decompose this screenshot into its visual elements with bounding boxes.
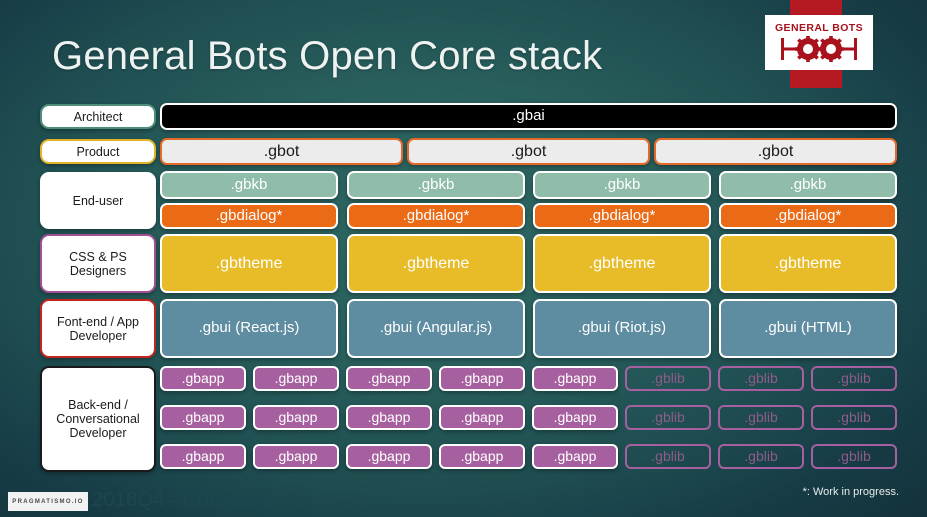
layer-gblib[interactable]: .gblib bbox=[811, 405, 897, 430]
layer-gbai[interactable]: .gbai bbox=[160, 103, 897, 130]
layer-gbapp[interactable]: .gbapp bbox=[346, 405, 432, 430]
layer-gbapp[interactable]: .gbapp bbox=[532, 444, 618, 469]
layer-gbapp[interactable]: .gbapp bbox=[160, 405, 246, 430]
layer-gbtheme[interactable]: .gbtheme bbox=[160, 234, 338, 293]
layer-gbkb[interactable]: .gbkb bbox=[347, 171, 525, 199]
footer-edition: 2018Q4 - Corporate bbox=[92, 489, 273, 512]
layer-gbapp[interactable]: .gbapp bbox=[253, 366, 339, 391]
pragmatismo-logo: PRAGMATISMO.IO bbox=[8, 492, 88, 511]
role-label-architect: Architect bbox=[40, 104, 156, 129]
logo-wordmark: GENERAL BOTS bbox=[775, 23, 863, 34]
layer-gbtheme[interactable]: .gbtheme bbox=[533, 234, 711, 293]
layer-gbui-angular[interactable]: .gbui (Angular.js) bbox=[347, 299, 525, 358]
layer-gblib[interactable]: .gblib bbox=[625, 405, 711, 430]
layer-gbapp[interactable]: .gbapp bbox=[160, 366, 246, 391]
layer-gbapp[interactable]: .gbapp bbox=[253, 405, 339, 430]
layer-gbkb[interactable]: .gbkb bbox=[160, 171, 338, 199]
layer-gbtheme[interactable]: .gbtheme bbox=[347, 234, 525, 293]
layer-gbapp[interactable]: .gbapp bbox=[532, 405, 618, 430]
layer-gbapp[interactable]: .gbapp bbox=[253, 444, 339, 469]
layer-gbot[interactable]: .gbot bbox=[407, 138, 650, 165]
layer-gbapp[interactable]: .gbapp bbox=[160, 444, 246, 469]
layer-gblib[interactable]: .gblib bbox=[811, 444, 897, 469]
layer-gblib[interactable]: .gblib bbox=[718, 405, 804, 430]
role-label-frontend-developer: Font-end / App Developer bbox=[40, 299, 156, 358]
role-label-product: Product bbox=[40, 139, 156, 164]
layer-gblib[interactable]: .gblib bbox=[718, 366, 804, 391]
gears-icon bbox=[777, 36, 861, 62]
page-title: General Bots Open Core stack bbox=[52, 34, 602, 79]
layer-gbot[interactable]: .gbot bbox=[654, 138, 897, 165]
layer-gbdialog[interactable]: .gbdialog* bbox=[160, 203, 338, 229]
work-in-progress-note: *: Work in progress. bbox=[803, 486, 899, 498]
layer-gbapp[interactable]: .gbapp bbox=[439, 366, 525, 391]
general-bots-logo: GENERAL BOTS bbox=[765, 15, 873, 70]
layer-gbdialog[interactable]: .gbdialog* bbox=[347, 203, 525, 229]
layer-gbdialog[interactable]: .gbdialog* bbox=[719, 203, 897, 229]
layer-gbapp[interactable]: .gbapp bbox=[346, 444, 432, 469]
slide-canvas: GENERAL BOTS bbox=[0, 0, 927, 517]
role-label-css-ps-designers: CSS & PS Designers bbox=[40, 234, 156, 293]
layer-gbkb[interactable]: .gbkb bbox=[719, 171, 897, 199]
layer-gbapp[interactable]: .gbapp bbox=[346, 366, 432, 391]
pragmatismo-wordmark: PRAGMATISMO.IO bbox=[12, 499, 83, 505]
layer-gbapp[interactable]: .gbapp bbox=[532, 366, 618, 391]
layer-gblib[interactable]: .gblib bbox=[811, 366, 897, 391]
layer-gbui-html[interactable]: .gbui (HTML) bbox=[719, 299, 897, 358]
layer-gbkb[interactable]: .gbkb bbox=[533, 171, 711, 199]
layer-gbot[interactable]: .gbot bbox=[160, 138, 403, 165]
role-label-backend-developer: Back-end / Conversational Developer bbox=[40, 366, 156, 472]
role-label-end-user: End-user bbox=[40, 172, 156, 229]
layer-gbui-riot[interactable]: .gbui (Riot.js) bbox=[533, 299, 711, 358]
layer-gbapp[interactable]: .gbapp bbox=[439, 444, 525, 469]
layer-gblib[interactable]: .gblib bbox=[625, 366, 711, 391]
layer-gblib[interactable]: .gblib bbox=[718, 444, 804, 469]
layer-gbui-react[interactable]: .gbui (React.js) bbox=[160, 299, 338, 358]
layer-gbdialog[interactable]: .gbdialog* bbox=[533, 203, 711, 229]
layer-gbtheme[interactable]: .gbtheme bbox=[719, 234, 897, 293]
layer-gblib[interactable]: .gblib bbox=[625, 444, 711, 469]
layer-gbapp[interactable]: .gbapp bbox=[439, 405, 525, 430]
